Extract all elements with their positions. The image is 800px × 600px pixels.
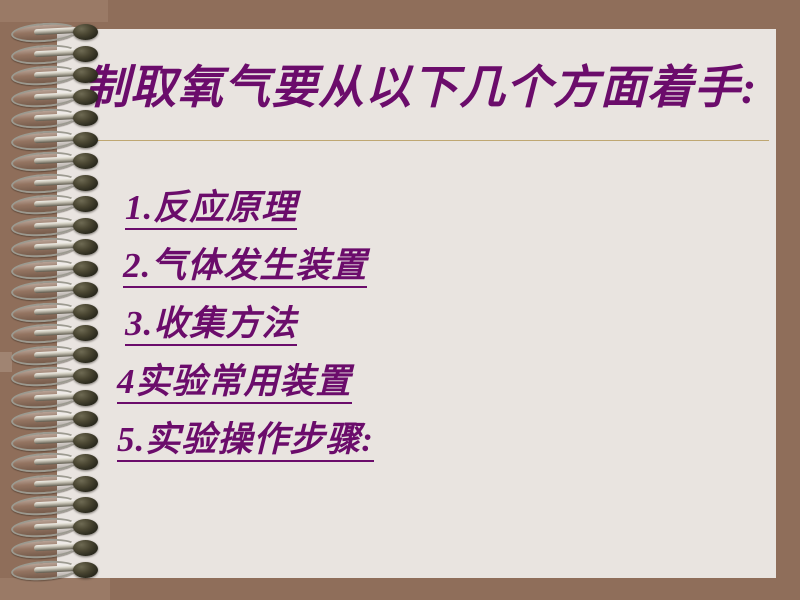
list-item: 5.实验操作步骤: [115, 411, 755, 469]
cover-texture-patch-top [0, 0, 108, 22]
title-divider-rule [90, 140, 769, 141]
presentation-slide: 制取氧气要从以下几个方面着手: 1.反应原理 2.气体发生装置 3.收集方法 4… [0, 0, 800, 600]
list-item: 4实验常用装置 [115, 353, 755, 411]
list-item-label: 5.实验操作步骤: [117, 420, 374, 462]
slide-title: 制取氧气要从以下几个方面着手: [83, 57, 773, 119]
list-item-label: 2.气体发生装置 [123, 246, 367, 288]
list-item-label: 4实验常用装置 [117, 362, 352, 404]
list-item: 3.收集方法 [115, 295, 755, 353]
list-item: 2.气体发生装置 [115, 237, 755, 295]
slide-bullet-list: 1.反应原理 2.气体发生装置 3.收集方法 4实验常用装置 5.实验操作步骤: [115, 179, 755, 469]
notebook-page: 制取氧气要从以下几个方面着手: 1.反应原理 2.气体发生装置 3.收集方法 4… [57, 29, 776, 578]
list-item-label: 1.反应原理 [125, 188, 297, 230]
list-item-label: 3.收集方法 [125, 304, 297, 346]
cover-texture-patch-middle [0, 352, 12, 372]
cover-texture-patch-bottom [0, 578, 110, 600]
list-item: 1.反应原理 [115, 179, 755, 237]
